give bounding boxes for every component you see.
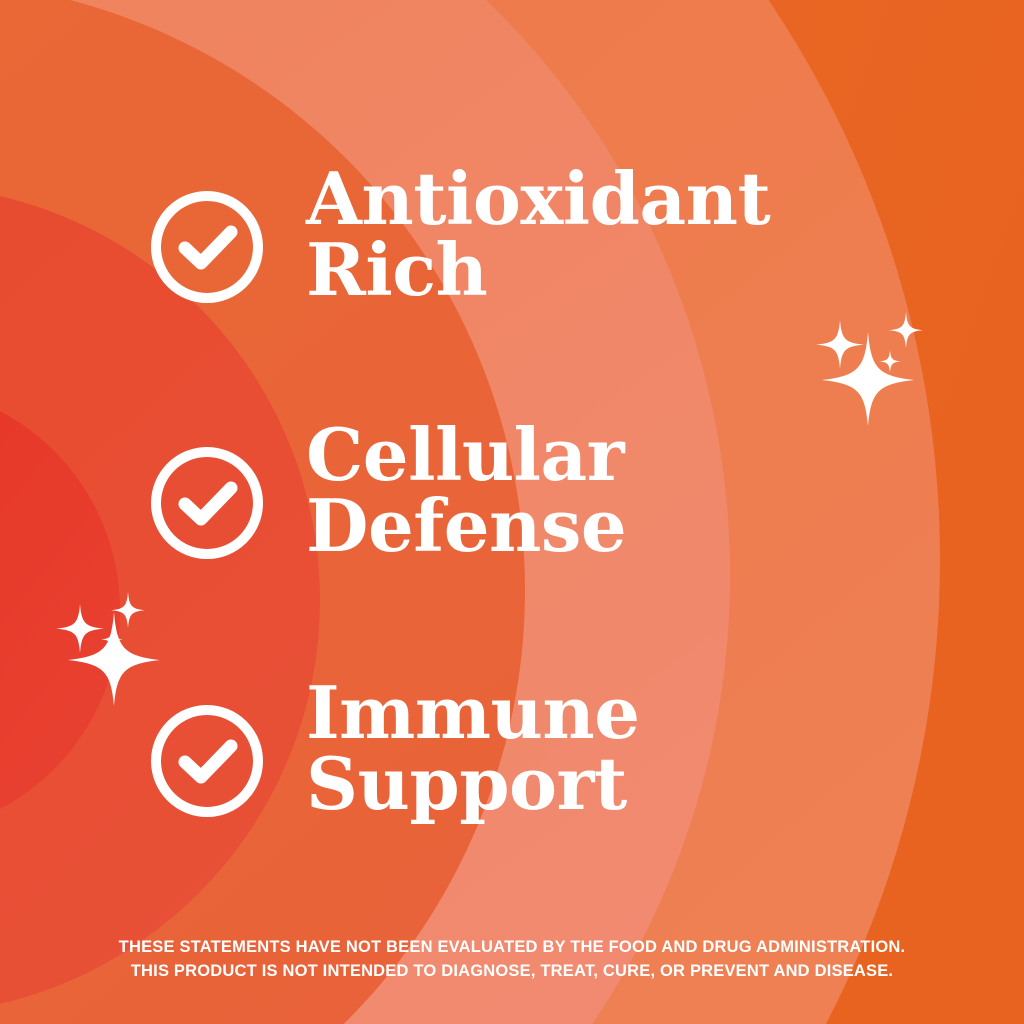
fda-disclaimer: THESE STATEMENTS HAVE NOT BEEN EVALUATED…: [0, 936, 1024, 984]
benefit-label: Immune Support: [306, 678, 640, 819]
benefits-list: Antioxidant Rich Cellular Defense Immune…: [0, 0, 1024, 1024]
benefit-label: Cellular Defense: [306, 420, 626, 561]
disclaimer-line-1: THESE STATEMENTS HAVE NOT BEEN EVALUATED…: [56, 936, 968, 960]
disclaimer-line-2: THIS PRODUCT IS NOT INTENDED TO DIAGNOSE…: [56, 960, 968, 984]
check-circle-icon: [148, 702, 266, 820]
check-circle-icon: [148, 444, 266, 562]
benefit-item-antioxidant-rich: Antioxidant Rich: [148, 164, 770, 306]
check-circle-icon: [148, 188, 266, 306]
promo-canvas: Antioxidant Rich Cellular Defense Immune…: [0, 0, 1024, 1024]
benefit-item-cellular-defense: Cellular Defense: [148, 420, 626, 562]
benefit-label: Antioxidant Rich: [306, 164, 770, 305]
benefit-item-immune-support: Immune Support: [148, 678, 640, 820]
